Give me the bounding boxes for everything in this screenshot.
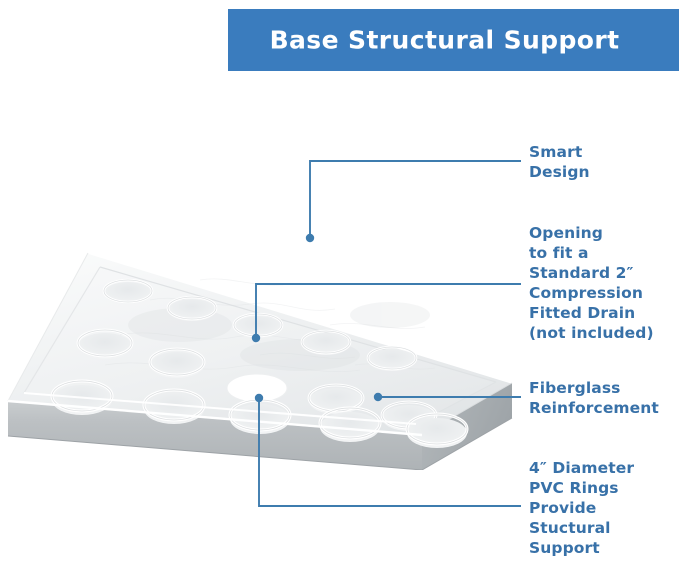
drain-opening bbox=[227, 374, 287, 402]
header-banner: Base Structural Support bbox=[228, 9, 679, 71]
shower-base-graphic bbox=[0, 205, 520, 470]
callout-label-fiberglass: Fiberglass Reinforcement bbox=[529, 379, 659, 419]
page-title: Base Structural Support bbox=[228, 26, 679, 55]
shower-base-illustration bbox=[0, 205, 520, 470]
callout-label-smart-design: Smart Design bbox=[529, 143, 590, 183]
callout-label-pvc-rings: 4″ Diameter PVC Rings Provide Stuctural … bbox=[529, 459, 634, 559]
callout-label-drain-opening: Opening to fit a Standard 2″ Compression… bbox=[529, 224, 654, 344]
